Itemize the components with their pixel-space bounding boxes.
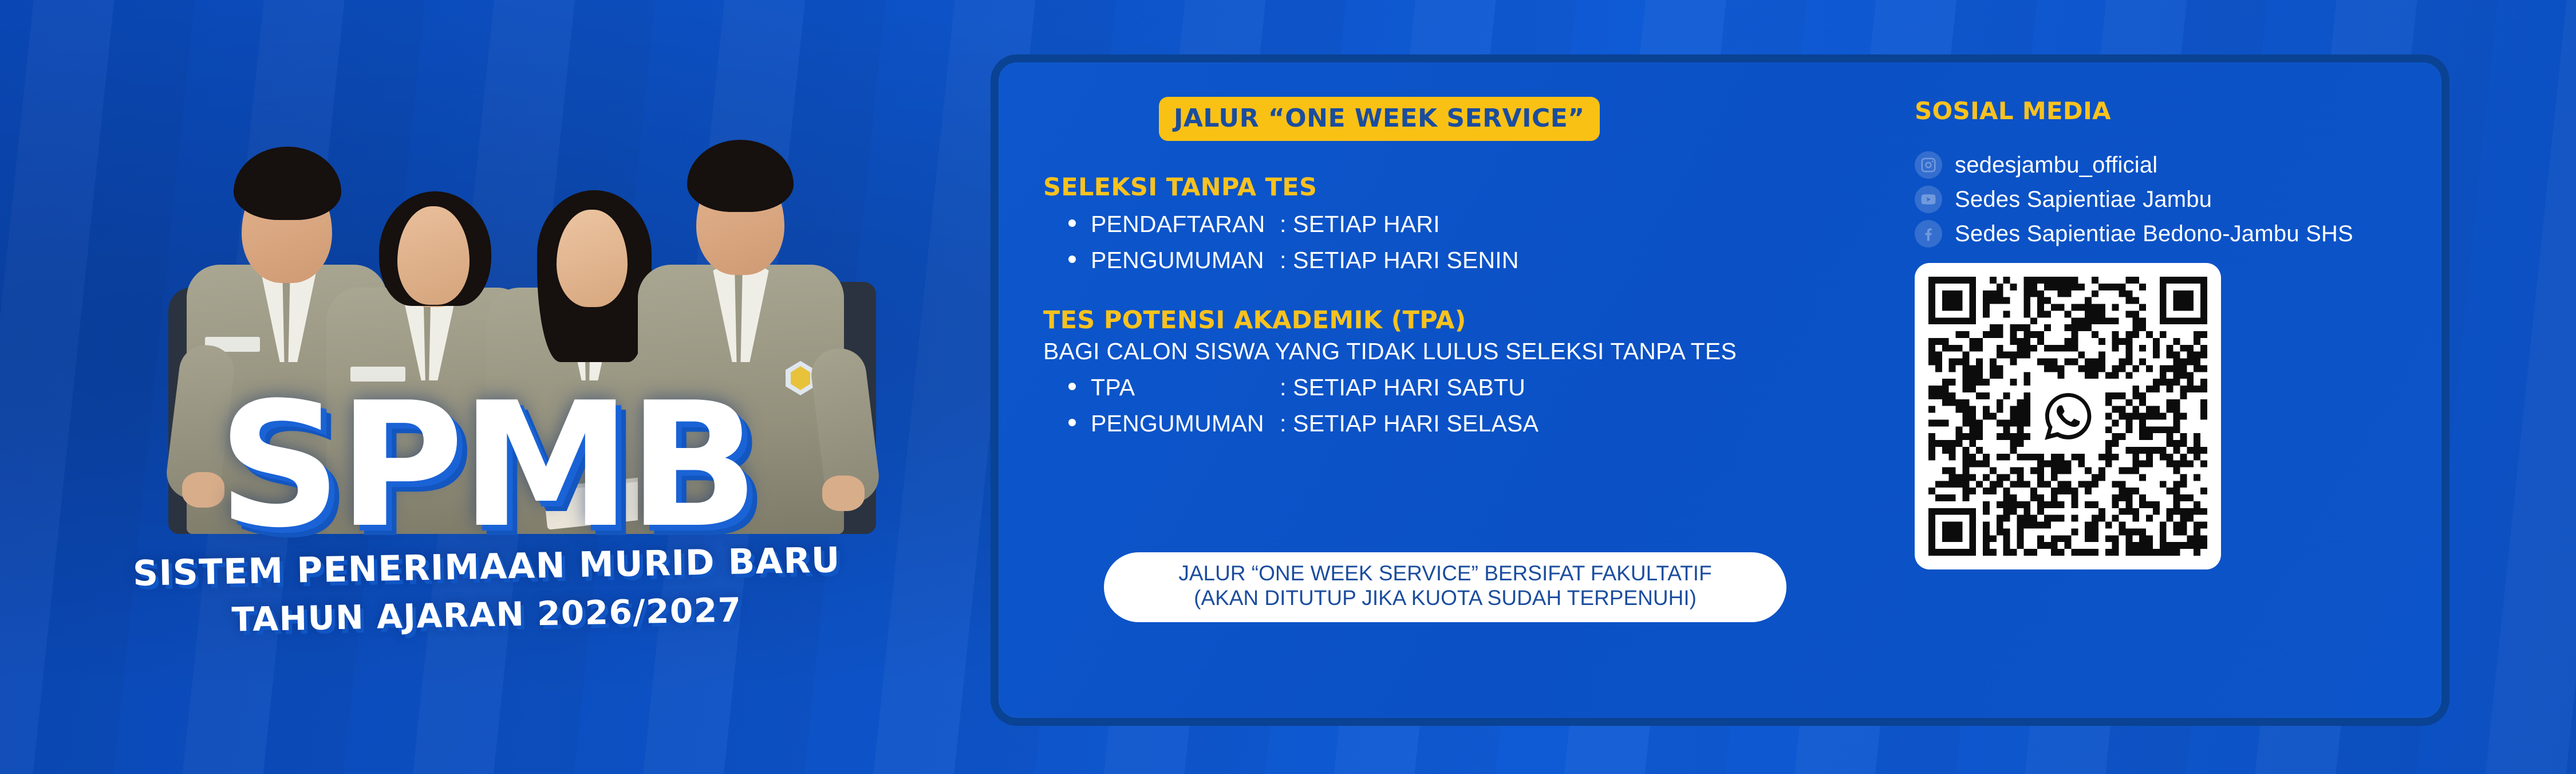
bullet-icon (1068, 383, 1076, 390)
spmb-promo-banner: SPMB SISTEM PENERIMAAN MURID BARU TAHUN … (0, 0, 2576, 774)
callout-line-1: JALUR “ONE WEEK SERVICE” BERSIFAT FAKULT… (1127, 561, 1764, 586)
schedule-value: : SETIAP HARI SENIN (1280, 247, 1519, 274)
schedule-value: : SETIAP HARI SABTU (1280, 374, 1525, 401)
schedule-row: TPA : SETIAP HARI SABTU (1068, 374, 1898, 401)
info-card-right-column: SOSIAL MEDIA sedesjambu_official Sedes S… (1915, 97, 2419, 254)
face-front (397, 206, 470, 305)
schedule-row: PENGUMUMAN : SETIAP HARI SENIN (1068, 247, 1898, 274)
bullet-icon (1068, 419, 1076, 426)
social-handle: sedesjambu_official (1955, 152, 2157, 178)
section-heading-tes-potensi-akademik: TES POTENSI AKADEMIK (TPA) (1043, 306, 1898, 335)
bullet-icon (1068, 256, 1076, 263)
schedule-value: : SETIAP HARI SELASA (1280, 410, 1539, 437)
schedule-label: PENGUMUMAN (1091, 410, 1280, 437)
face-front (557, 210, 628, 307)
instagram-icon (1915, 151, 1942, 179)
social-handle: Sedes Sapientiae Jambu (1955, 187, 2212, 213)
whatsapp-qr-code[interactable] (1915, 263, 2221, 569)
schedule-label: PENGUMUMAN (1091, 247, 1280, 274)
social-accounts-list: sedesjambu_official Sedes Sapientiae Jam… (1915, 151, 2419, 247)
social-account-instagram[interactable]: sedesjambu_official (1915, 151, 2419, 179)
schedule-row: PENGUMUMAN : SETIAP HARI SELASA (1068, 410, 1898, 437)
schedule-list-seleksi-tanpa-tes: PENDAFTARAN : SETIAP HARI PENGUMUMAN : S… (1068, 211, 1898, 274)
spmb-acronym: SPMB (69, 395, 905, 536)
social-account-youtube[interactable]: Sedes Sapientiae Jambu (1915, 186, 2419, 213)
schedule-list-tpa: TPA : SETIAP HARI SABTU PENGUMUMAN : SET… (1068, 374, 1898, 437)
social-media-heading: SOSIAL MEDIA (1915, 97, 2419, 125)
spmb-subtitle-line1: SISTEM PENERIMAAN MURID BARU (68, 539, 905, 595)
section-heading-seleksi-tanpa-tes: SELEKSI TANPA TES (1043, 173, 1898, 202)
bullet-icon (1068, 219, 1076, 227)
section-note-tpa: BAGI CALON SISWA YANG TIDAK LULUS SELEKS… (1043, 338, 1898, 365)
spmb-subtitle-line2: TAHUN AJARAN 2026/2027 (68, 587, 905, 642)
callout-line-2: (AKAN DITUTUP JIKA KUOTA SUDAH TERPENUHI… (1127, 586, 1764, 611)
whatsapp-icon (2034, 383, 2102, 450)
schedule-label: TPA (1091, 374, 1280, 401)
social-account-facebook[interactable]: Sedes Sapientiae Bedono-Jambu SHS (1915, 220, 2419, 247)
schedule-row: PENDAFTARAN : SETIAP HARI (1068, 211, 1898, 238)
social-handle: Sedes Sapientiae Bedono-Jambu SHS (1955, 221, 2353, 247)
jalur-one-week-service-badge: JALUR “ONE WEEK SERVICE” (1159, 97, 1600, 141)
qr-matrix (1928, 277, 2207, 556)
schedule-label: PENDAFTARAN (1091, 211, 1280, 238)
spmb-wordmark: SPMB SISTEM PENERIMAAN MURID BARU TAHUN … (69, 395, 905, 634)
fakultatif-callout: JALUR “ONE WEEK SERVICE” BERSIFAT FAKULT… (1104, 552, 1786, 622)
info-card-left-column: JALUR “ONE WEEK SERVICE” SELEKSI TANPA T… (1027, 97, 1898, 437)
youtube-icon (1915, 186, 1942, 213)
schedule-value: : SETIAP HARI (1280, 211, 1440, 238)
facebook-icon (1915, 220, 1942, 247)
hair (687, 140, 794, 212)
info-card: JALUR “ONE WEEK SERVICE” SELEKSI TANPA T… (991, 54, 2449, 726)
